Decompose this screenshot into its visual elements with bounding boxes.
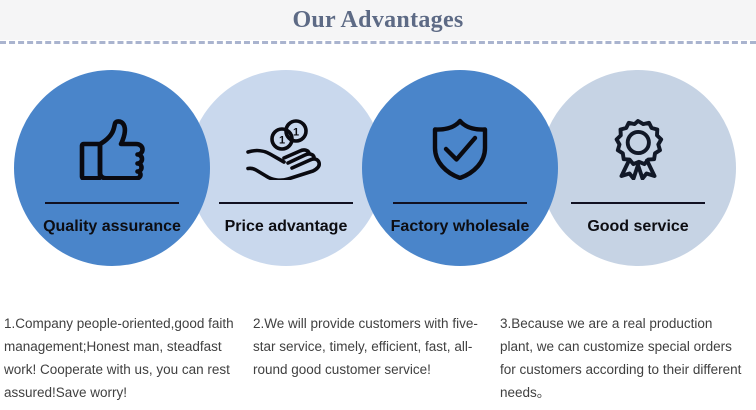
description-paragraph: 3.Because we are a real production plant…: [500, 312, 744, 404]
section-header: Our Advantages: [0, 0, 756, 40]
advantage-label: Price advantage: [225, 218, 348, 236]
header-dashed-divider: [0, 41, 756, 44]
label-divider: [393, 202, 527, 204]
page-title: Our Advantages: [292, 7, 463, 34]
advantage-card-factory-wholesale: Factory wholesale: [362, 70, 558, 266]
label-divider: [571, 202, 705, 204]
advantage-card-good-service: Good service: [540, 70, 736, 266]
advantage-card-price-advantage: 1 1 Price advantage: [188, 70, 384, 266]
advantage-label: Factory wholesale: [391, 218, 530, 236]
hand-holding-coins-icon: 1 1: [244, 118, 328, 180]
description-paragraph: 2.We will provide customers with five-st…: [253, 312, 483, 381]
thumbs-up-icon: [76, 118, 148, 180]
advantage-label: Quality assurance: [43, 218, 181, 236]
advantage-card-quality-assurance: Quality assurance: [14, 70, 210, 266]
svg-text:1: 1: [279, 135, 285, 147]
label-divider: [45, 202, 179, 204]
advantages-description-group: 1.Company people-oriented,good faith man…: [0, 312, 756, 410]
label-divider: [219, 202, 353, 204]
award-rosette-icon: [605, 118, 671, 180]
shield-check-icon: [427, 118, 493, 180]
advantages-circle-band: Quality assurance 1 1 Price advantage: [0, 48, 756, 298]
svg-text:1: 1: [293, 127, 299, 139]
description-paragraph: 1.Company people-oriented,good faith man…: [4, 312, 242, 404]
advantage-label: Good service: [587, 218, 688, 236]
